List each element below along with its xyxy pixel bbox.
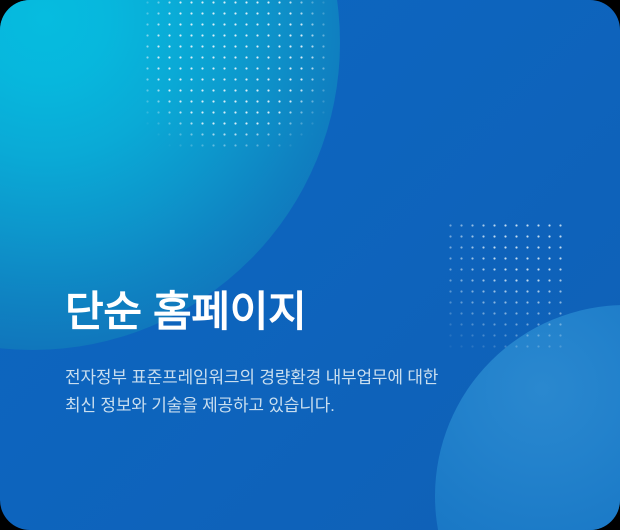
hero-banner-card: 단순 홈페이지 전자정부 표준프레임워크의 경량환경 내부업무에 대한 최신 정… (0, 0, 620, 530)
page-title: 단순 홈페이지 (65, 288, 575, 335)
hero-subtitle: 전자정부 표준프레임워크의 경량환경 내부업무에 대한 최신 정보와 기술을 제… (65, 364, 565, 420)
hero-subtitle-line-1: 전자정부 표준프레임워크의 경량환경 내부업무에 대한 (65, 364, 565, 392)
dot-grid-upper-icon (140, 0, 326, 148)
hero-subtitle-line-2: 최신 정보와 기술을 제공하고 있습니다. (65, 392, 565, 420)
hero-content: 단순 홈페이지 전자정부 표준프레임워크의 경량환경 내부업무에 대한 최신 정… (65, 288, 575, 420)
